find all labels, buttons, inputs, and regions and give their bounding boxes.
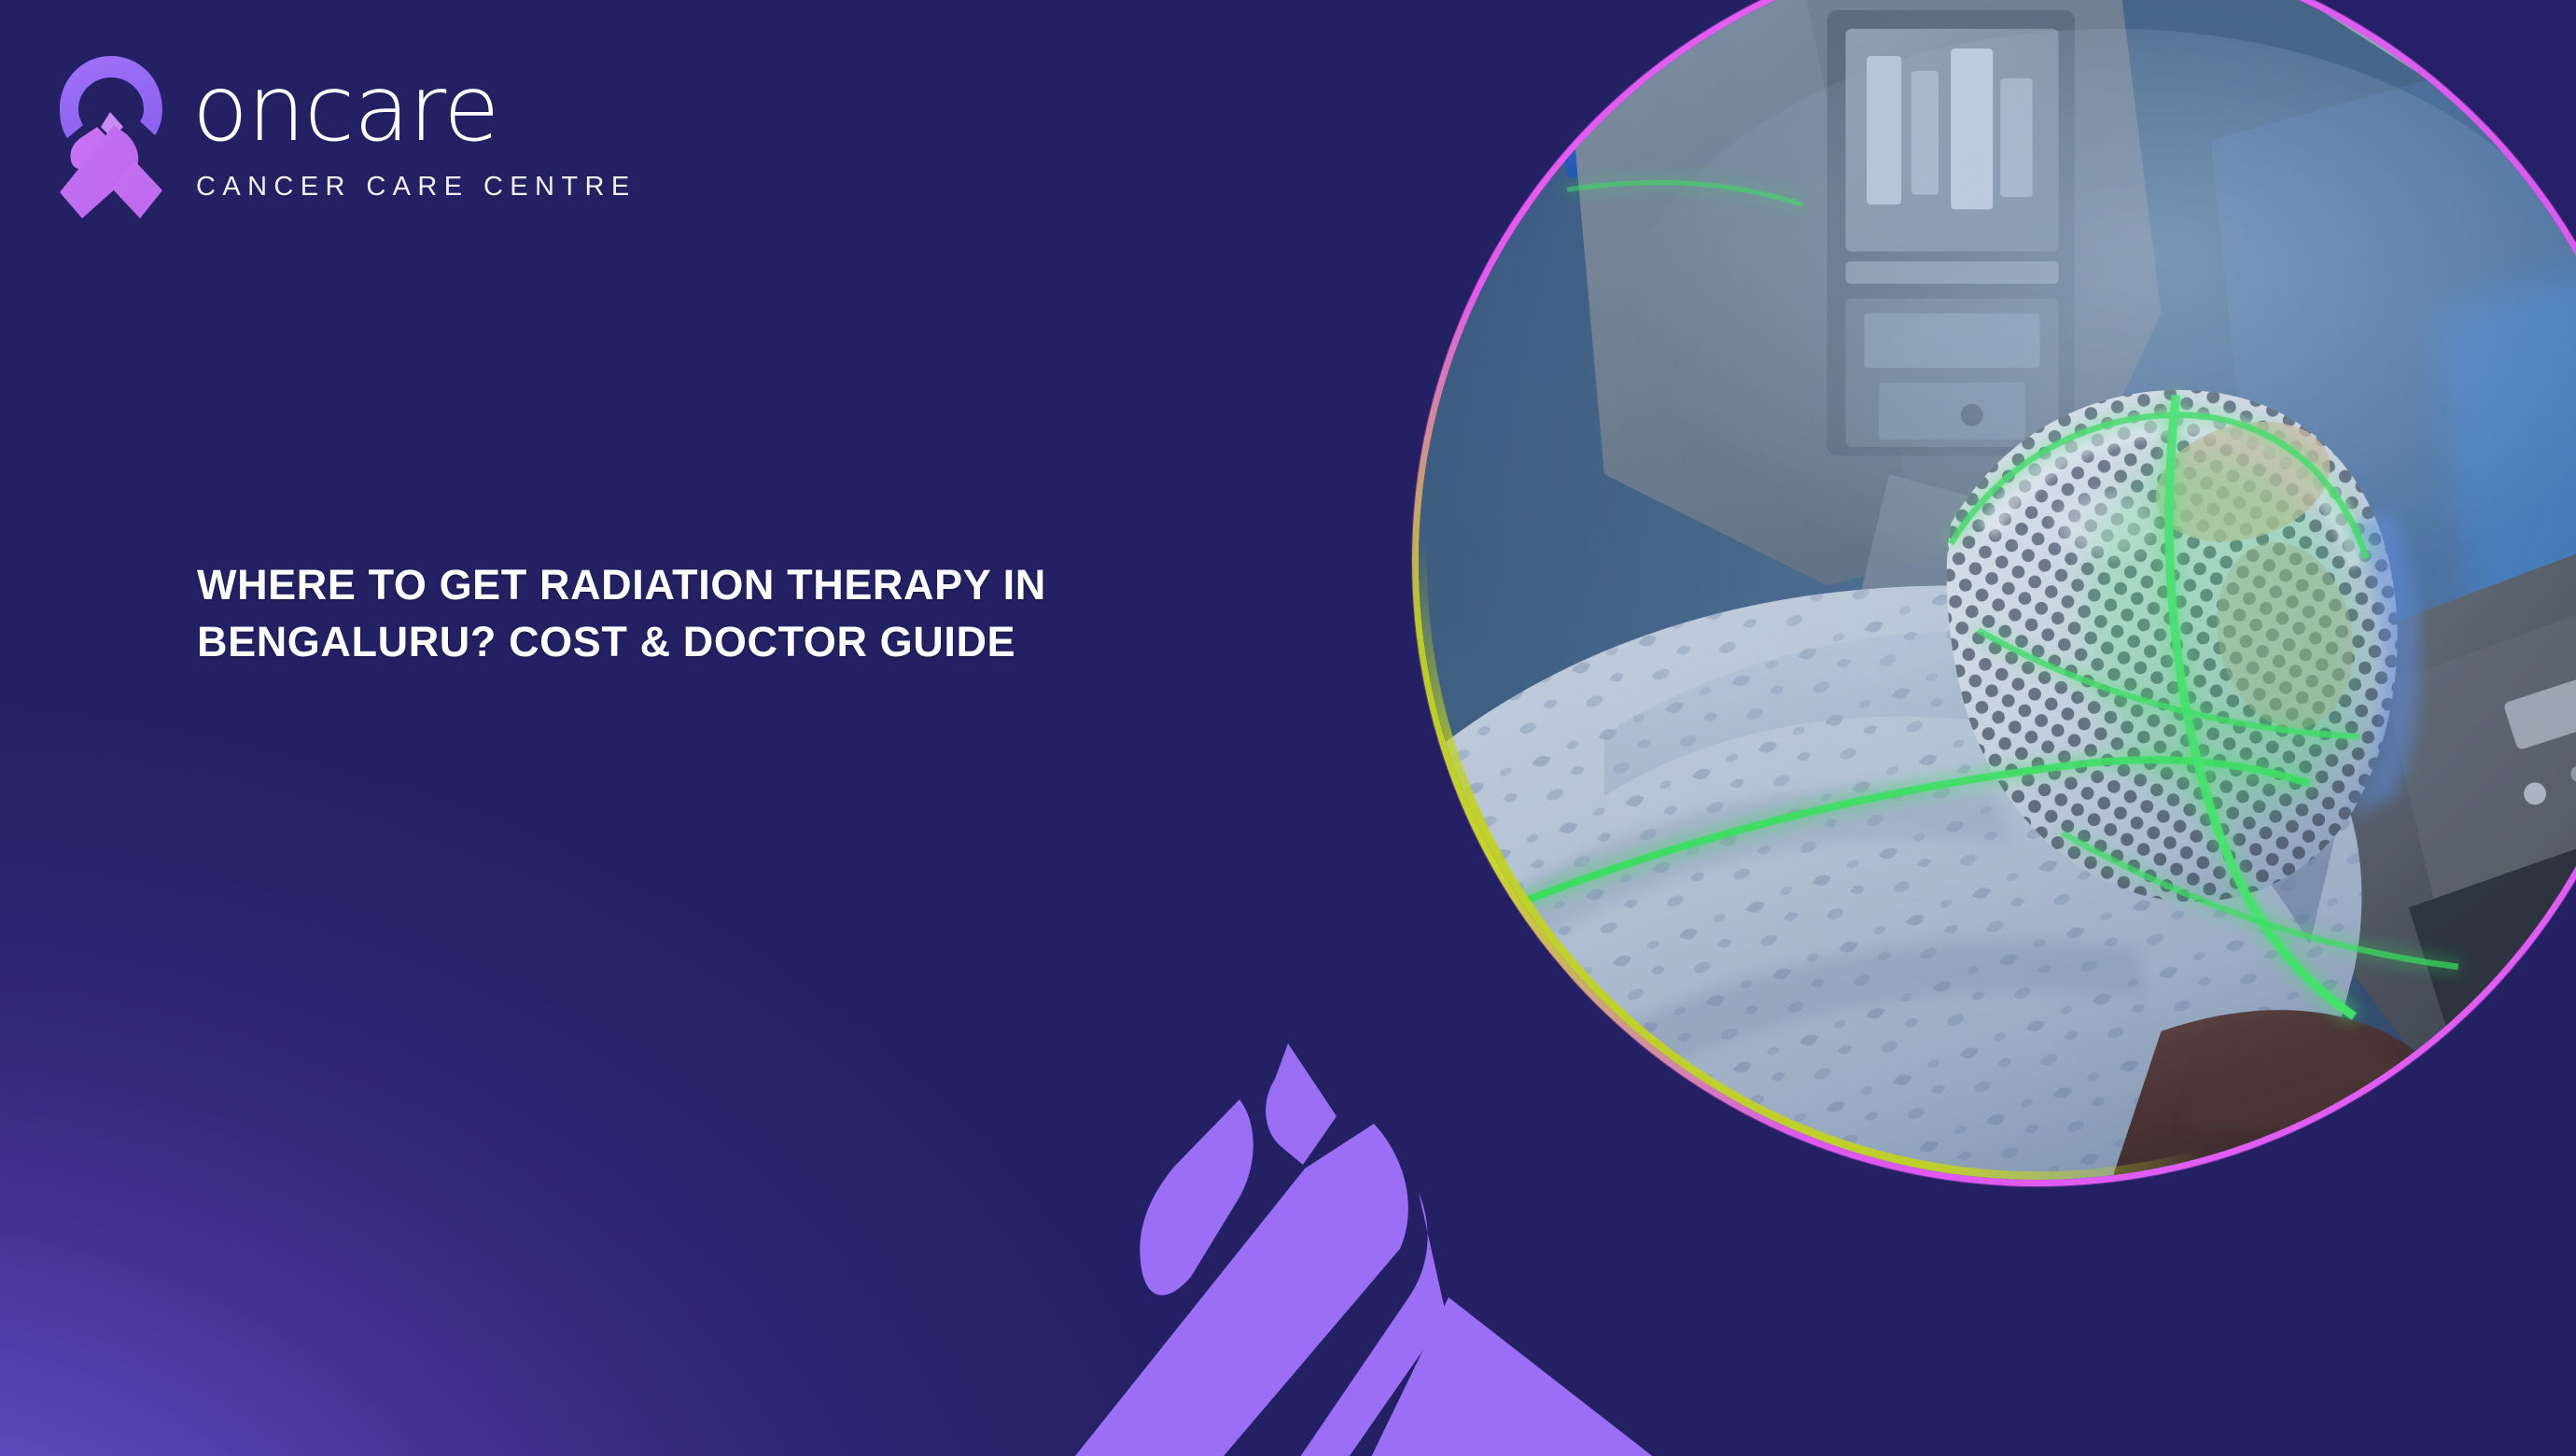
page-title-line-2: BENGALURU? COST & DOCTOR GUIDE	[197, 613, 1186, 670]
brand-wordmark: oncare	[192, 63, 637, 155]
radiation-therapy-photo	[1419, 0, 2576, 1180]
banner-canvas: oncare CANCER CARE CENTRE WHERE TO GET R…	[0, 0, 2576, 1456]
brand-text: oncare CANCER CARE CENTRE	[192, 49, 637, 201]
hero-image-circle	[1412, 0, 2576, 1186]
brand-tagline: CANCER CARE CENTRE	[196, 174, 637, 201]
page-title-line-1: WHERE TO GET RADIATION THERAPY IN	[197, 556, 1186, 613]
brand-logo-lockup[interactable]: oncare CANCER CARE CENTRE	[54, 49, 637, 218]
ribbon-icon	[54, 49, 168, 218]
page-title: WHERE TO GET RADIATION THERAPY IN BENGAL…	[197, 556, 1186, 670]
